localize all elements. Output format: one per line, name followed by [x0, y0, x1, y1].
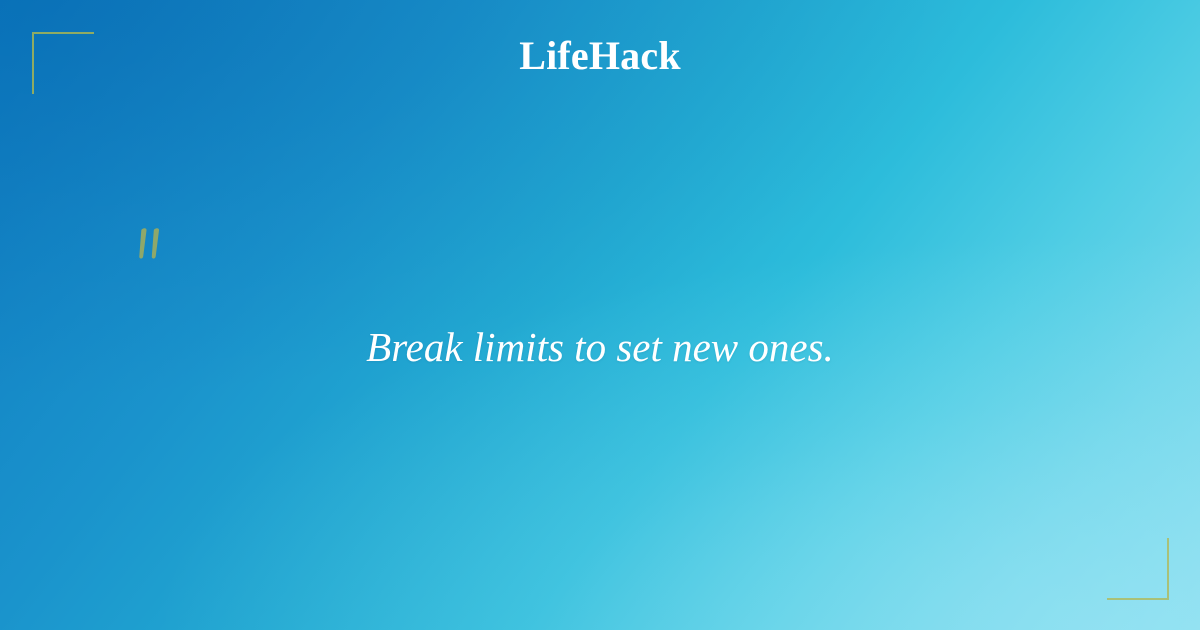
corner-bracket-icon-bottom-right — [1107, 538, 1169, 600]
lifehack-wordmark: LifeHack — [519, 36, 681, 76]
quote-card: LifeHack Break limits to set new ones. — [0, 0, 1200, 630]
quote-text: Break limits to set new ones. — [366, 321, 834, 373]
double-quote-icon — [132, 226, 176, 270]
quote-block: Break limits to set new ones. — [0, 280, 1200, 414]
brand-header: LifeHack — [0, 0, 1200, 112]
